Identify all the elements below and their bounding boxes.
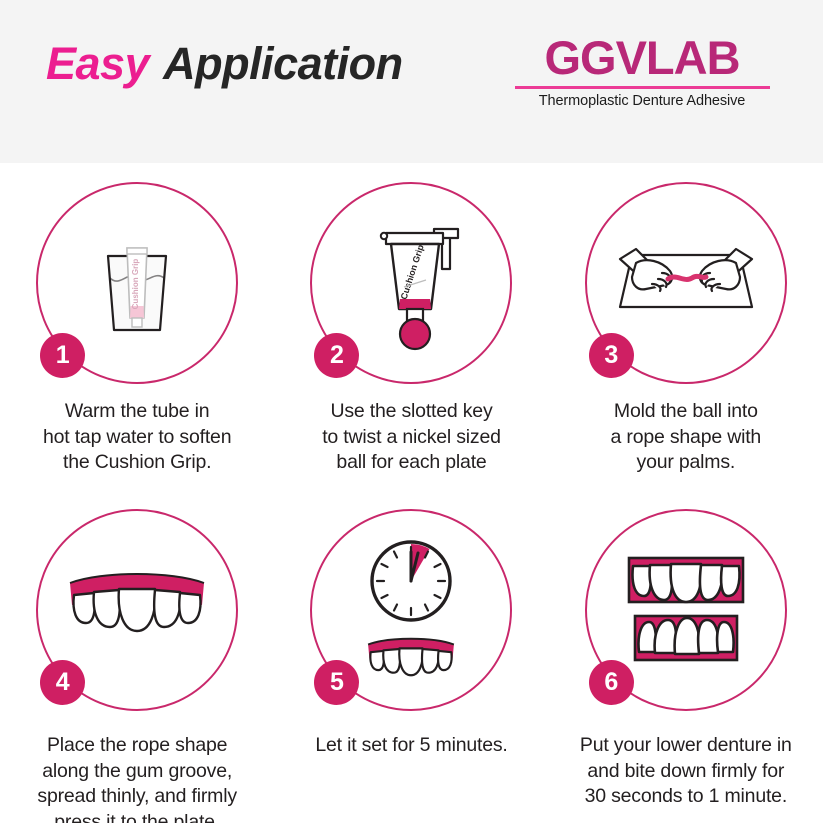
brand-divider	[515, 86, 770, 89]
page-title: Easy Application	[46, 38, 403, 90]
caption-line: Use the slotted key	[282, 399, 540, 425]
step-card-4: 4 Place the rope shape along the gum gro…	[0, 487, 274, 823]
step-caption-1: Warm the tube in hot tap water to soften…	[8, 399, 266, 476]
step-caption-4: Place the rope shape along the gum groov…	[8, 733, 266, 823]
caption-line: hot tap water to soften	[8, 425, 266, 451]
step-card-2: Cushion Grip 2 Use the slotted key to tw…	[274, 163, 548, 487]
caption-line: Mold the ball into	[557, 399, 815, 425]
step-illustration-3: 3	[585, 182, 787, 384]
caption-line: a rope shape with	[557, 425, 815, 451]
caption-line: Let it set for 5 minutes.	[282, 733, 540, 759]
caption-line: your palms.	[557, 450, 815, 476]
step-caption-2: Use the slotted key to twist a nickel si…	[282, 399, 540, 476]
step-card-6: 6 Put your lower denture in and bite dow…	[549, 487, 823, 823]
lower-denture-part	[635, 616, 737, 660]
step-illustration-1: Cushion Grip 1	[36, 182, 238, 384]
brand-name: GGVLAB	[511, 34, 773, 81]
step-card-1: Cushion Grip 1 Warm the tube in hot tap …	[0, 163, 274, 487]
upper-denture-part	[629, 558, 743, 602]
caption-line: along the gum groove,	[8, 759, 266, 785]
brand-tagline: Thermoplastic Denture Adhesive	[511, 93, 773, 109]
step-illustration-6: 6	[585, 509, 787, 711]
caption-line: to twist a nickel sized	[282, 425, 540, 451]
header-band: Easy Application GGVLAB Thermoplastic De…	[0, 0, 823, 163]
caption-line: and bite down firmly for	[557, 759, 815, 785]
page-title-highlight: Easy	[46, 38, 149, 90]
caption-line: press it to the plate.	[8, 810, 266, 823]
step-illustration-5: 5	[310, 509, 512, 711]
caption-line: Place the rope shape	[8, 733, 266, 759]
caption-line: ball for each plate	[282, 450, 540, 476]
caption-line: Put your lower denture in	[557, 733, 815, 759]
caption-line: the Cushion Grip.	[8, 450, 266, 476]
step-caption-3: Mold the ball into a rope shape with you…	[557, 399, 815, 476]
brand-logo: GGVLAB Thermoplastic Denture Adhesive	[511, 34, 773, 109]
step-card-5: 5 Let it set for 5 minutes.	[274, 487, 548, 823]
step-badge-3: 3	[589, 333, 634, 378]
page-title-rest: Application	[163, 38, 403, 90]
step-badge-4: 4	[40, 660, 85, 705]
caption-line: 30 seconds to 1 minute.	[557, 784, 815, 810]
step-caption-6: Put your lower denture in and bite down …	[557, 733, 815, 810]
step-badge-1: 1	[40, 333, 85, 378]
caption-line: spread thinly, and firmly	[8, 784, 266, 810]
step-caption-5: Let it set for 5 minutes.	[282, 733, 540, 759]
steps-grid: Cushion Grip 1 Warm the tube in hot tap …	[0, 163, 823, 823]
step-illustration-2: Cushion Grip 2	[310, 182, 512, 384]
step-illustration-4: 4	[36, 509, 238, 711]
step-card-3: 3 Mold the ball into a rope shape with y…	[549, 163, 823, 487]
step-badge-6: 6	[589, 660, 634, 705]
easy-application-infographic: Easy Application GGVLAB Thermoplastic De…	[0, 0, 823, 823]
caption-line: Warm the tube in	[8, 399, 266, 425]
tube-label-text: Cushion Grip	[131, 259, 140, 310]
